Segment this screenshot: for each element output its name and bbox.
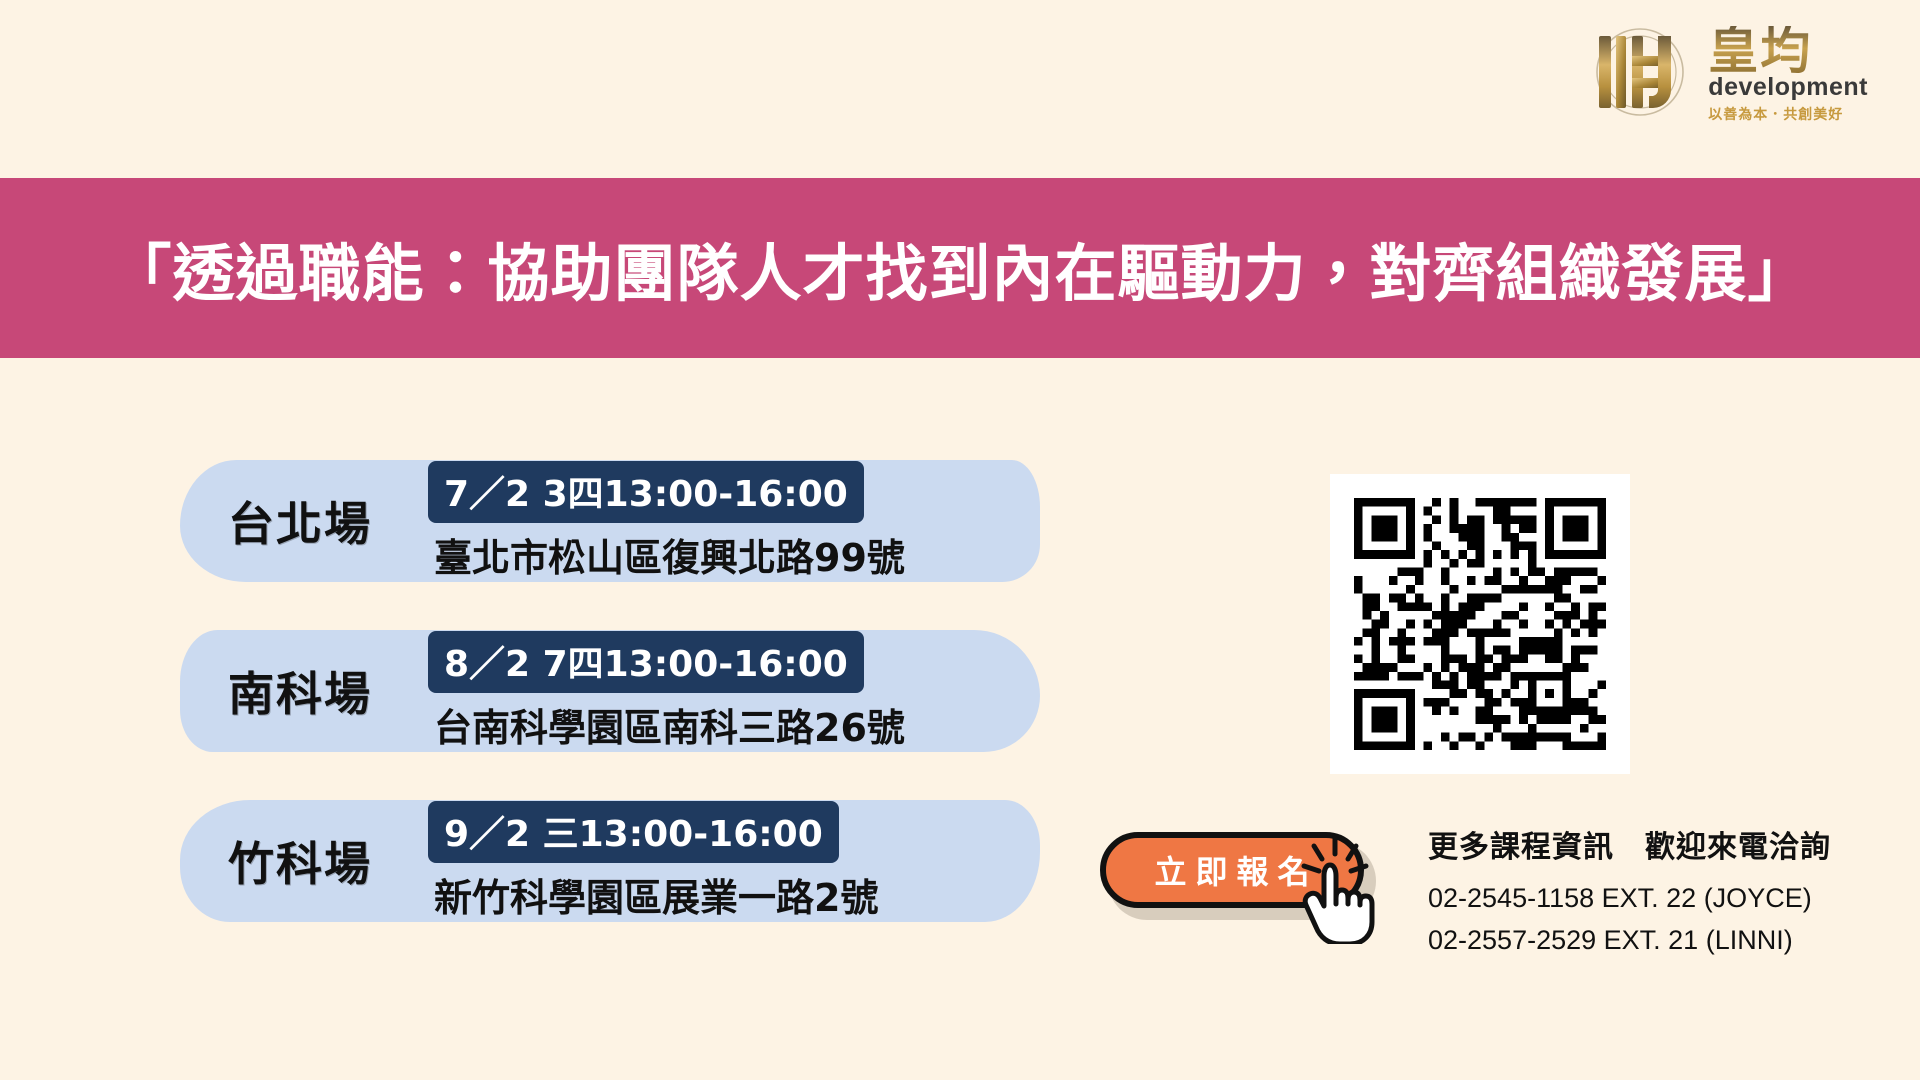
session-card-taipei: 台北場 7／2 3四13:00-16:00 臺北市松山區復興北路99號: [180, 460, 1040, 582]
registration-qr-code[interactable]: [1330, 474, 1630, 774]
session-datetime-badge: 7／2 3四13:00-16:00: [428, 461, 864, 523]
pointing-hand-click-icon: [1280, 824, 1400, 944]
contact-phone-joyce[interactable]: 02-2545-1158 EXT. 22 (JOYCE): [1428, 878, 1848, 920]
session-address: 新竹科學園區展業一路2號: [428, 867, 878, 922]
page-header: 皇均 development 以善為本．共創美好: [0, 0, 1920, 178]
session-datetime-badge: 9／2 三13:00-16:00: [428, 801, 839, 863]
session-address: 臺北市松山區復興北路99號: [428, 527, 905, 582]
session-address: 台南科學園區南科三路26號: [428, 697, 905, 752]
page-title: 「透過職能：協助團隊人才找到內在驅動力，對齊組織發展」: [109, 223, 1810, 313]
title-banner: 「透過職能：協助團隊人才找到內在驅動力，對齊組織發展」: [0, 178, 1920, 358]
contact-block: 更多課程資訊 歡迎來電洽詢 02-2545-1158 EXT. 22 (JOYC…: [1428, 822, 1848, 962]
contact-heading: 更多課程資訊 歡迎來電洽詢: [1428, 822, 1848, 866]
qr-code-icon: [1354, 498, 1606, 750]
huangjun-monogram-icon: [1586, 18, 1694, 126]
logo-slogan: 以善為本．共創美好: [1708, 104, 1843, 124]
logo-company-name-en: development: [1708, 74, 1868, 102]
session-venue-label: 竹科場: [228, 828, 428, 894]
session-venue-label: 台北場: [228, 488, 428, 554]
company-logo: 皇均 development 以善為本．共創美好: [1586, 18, 1868, 126]
session-card-nanke: 南科場 8／2 7四13:00-16:00 台南科學園區南科三路26號: [180, 630, 1040, 752]
session-datetime-badge: 8／2 7四13:00-16:00: [428, 631, 864, 693]
session-venue-label: 南科場: [228, 658, 428, 724]
session-card-zhuke: 竹科場 9／2 三13:00-16:00 新竹科學園區展業一路2號: [180, 800, 1040, 922]
logo-company-name-cn: 皇均: [1708, 26, 1812, 76]
session-list: 台北場 7／2 3四13:00-16:00 臺北市松山區復興北路99號 南科場 …: [180, 460, 1060, 970]
register-cta[interactable]: 立即報名: [1094, 826, 1394, 946]
contact-phone-linni[interactable]: 02-2557-2529 EXT. 21 (LINNI): [1428, 920, 1848, 962]
